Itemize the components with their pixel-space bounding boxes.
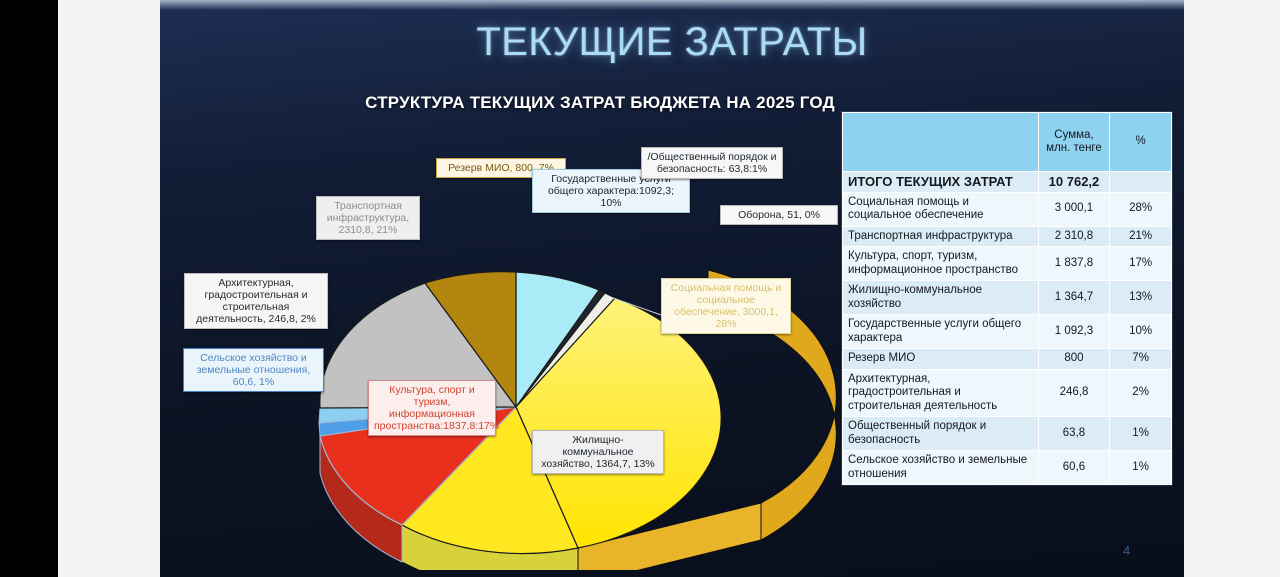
pie-label-socialnaya-pomosch: Социальная помощь и социальное обеспечен…	[661, 278, 791, 334]
row-category: Социальная помощь и социальное обеспечен…	[843, 192, 1039, 226]
row-category: Резерв МИО	[843, 349, 1039, 370]
row-percent: 10%	[1110, 315, 1172, 349]
slide-top-highlight	[160, 0, 1184, 10]
row-amount: 1 092,3	[1038, 315, 1109, 349]
row-percent: 21%	[1110, 226, 1172, 247]
table-row: Транспортная инфраструктура2 310,821%	[843, 226, 1172, 247]
pie-label-transportnaya: Транспортная инфраструктура, 2310,8, 21%	[316, 196, 420, 240]
total-percent	[1110, 172, 1172, 193]
row-percent: 7%	[1110, 349, 1172, 370]
row-category: Общественный порядок и безопасность	[843, 417, 1039, 451]
row-percent: 1%	[1110, 451, 1172, 485]
pie-chart-svg	[164, 120, 864, 570]
chart-title: СТРУКТУРА ТЕКУЩИХ ЗАТРАТ БЮДЖЕТА НА 2025…	[280, 93, 920, 113]
expenses-table: Сумма, млн. тенге % ИТОГО ТЕКУЩИХ ЗАТРАТ…	[842, 112, 1172, 485]
pie-label-oborona: Оборона, 51, 0%	[720, 205, 838, 225]
pie-label-arhitekturnaya: Архитектурная, градостроительная и строи…	[184, 273, 328, 329]
row-percent: 13%	[1110, 281, 1172, 315]
pie-chart: Транспортная инфраструктура, 2310,8, 21%…	[164, 120, 864, 570]
row-amount: 246,8	[1038, 369, 1109, 417]
right-page-margin	[1184, 0, 1280, 577]
table-row: Резерв МИО8007%	[843, 349, 1172, 370]
table-row: Сельское хозяйство и земельные отношения…	[843, 451, 1172, 485]
row-percent: 1%	[1110, 417, 1172, 451]
row-amount: 800	[1038, 349, 1109, 370]
row-category: Архитектурная, градостроительная и строи…	[843, 369, 1039, 417]
total-label: ИТОГО ТЕКУЩИХ ЗАТРАТ	[843, 172, 1039, 193]
row-amount: 2 310,8	[1038, 226, 1109, 247]
pie-label-jkh: Жилищно-коммунальное хозяйство, 1364,7, …	[532, 430, 664, 474]
page-title: ТЕКУЩИЕ ЗАТРАТЫ	[160, 20, 1184, 65]
table-header-row: Сумма, млн. тенге %	[843, 113, 1172, 172]
table-row: Жилищно-коммунальное хозяйство1 364,713%	[843, 281, 1172, 315]
row-amount: 63,8	[1038, 417, 1109, 451]
row-category: Транспортная инфраструктура	[843, 226, 1039, 247]
table-row: Общественный порядок и безопасность63,81…	[843, 417, 1172, 451]
row-category: Государственные услуги общего характера	[843, 315, 1039, 349]
row-percent: 17%	[1110, 247, 1172, 281]
row-category: Культура, спорт, туризм, информационное …	[843, 247, 1039, 281]
expenses-table-body: Сумма, млн. тенге % ИТОГО ТЕКУЩИХ ЗАТРАТ…	[843, 113, 1172, 485]
left-black-bar	[0, 0, 58, 577]
table-header-amount: Сумма, млн. тенге	[1038, 113, 1109, 172]
presentation-slide: ТЕКУЩИЕ ЗАТРАТЫ СТРУКТУРА ТЕКУЩИХ ЗАТРАТ…	[160, 0, 1184, 577]
table-row-total: ИТОГО ТЕКУЩИХ ЗАТРАТ 10 762,2	[843, 172, 1172, 193]
total-amount: 10 762,2	[1038, 172, 1109, 193]
row-amount: 1 837,8	[1038, 247, 1109, 281]
row-amount: 60,6	[1038, 451, 1109, 485]
pie-label-kultura: Культура, спорт и туризм, информационная…	[368, 380, 496, 436]
left-page-margin	[58, 0, 160, 577]
table-row: Культура, спорт, туризм, информационное …	[843, 247, 1172, 281]
table-row: Архитектурная, градостроительная и строи…	[843, 369, 1172, 417]
table-header-category	[843, 113, 1039, 172]
row-amount: 1 364,7	[1038, 281, 1109, 315]
table-row: Социальная помощь и социальное обеспечен…	[843, 192, 1172, 226]
row-percent: 2%	[1110, 369, 1172, 417]
table-row: Государственные услуги общего характера1…	[843, 315, 1172, 349]
row-amount: 3 000,1	[1038, 192, 1109, 226]
pie-label-obsh-poryadok: /Общественный порядок и безопасность: 63…	[641, 147, 783, 179]
screen: ТЕКУЩИЕ ЗАТРАТЫ СТРУКТУРА ТЕКУЩИХ ЗАТРАТ…	[0, 0, 1280, 577]
slide-number: 4	[1123, 543, 1130, 558]
row-category: Жилищно-коммунальное хозяйство	[843, 281, 1039, 315]
row-percent: 28%	[1110, 192, 1172, 226]
table-header-percent: %	[1110, 113, 1172, 172]
pie-label-selskoe-hozyaistvo: Сельское хозяйство и земельные отношения…	[183, 348, 324, 392]
row-category: Сельское хозяйство и земельные отношения	[843, 451, 1039, 485]
